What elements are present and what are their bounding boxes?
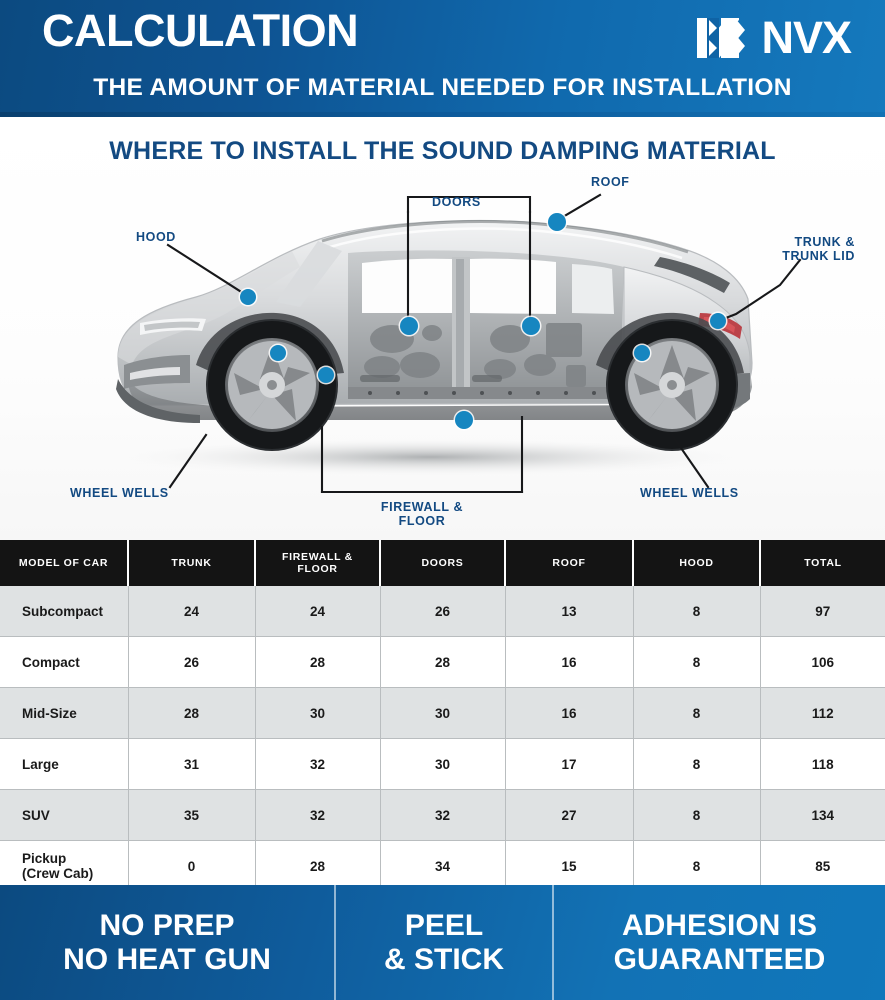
table-body: Subcompact 24 24 26 13 8 97 Compact 26 2… <box>0 586 885 892</box>
cell-roof: 15 <box>505 841 633 892</box>
cell-total: 106 <box>760 637 885 688</box>
footer-item-adhesion: ADHESION IS GUARANTEED <box>554 885 885 1000</box>
col-header-hood: HOOD <box>633 540 760 586</box>
cell-firewall-floor: 32 <box>255 790 380 841</box>
marker-dot-front-door <box>400 317 418 335</box>
label-trunk: TRUNK & TRUNK LID <box>685 235 855 263</box>
cell-doors: 30 <box>380 739 505 790</box>
table-row: SUV 35 32 32 27 8 134 <box>0 790 885 841</box>
footer-banner: NO PREP NO HEAT GUN PEEL & STICK ADHESIO… <box>0 885 885 1000</box>
cell-roof: 17 <box>505 739 633 790</box>
cell-total: 134 <box>760 790 885 841</box>
cell-roof: 16 <box>505 688 633 739</box>
diagram-section: WHERE TO INSTALL THE SOUND DAMPING MATER… <box>0 117 885 540</box>
infographic-page: CALCULATION NVX THE AMOUNT OF MATERIAL N… <box>0 0 885 1000</box>
col-header-trunk: TRUNK <box>128 540 255 586</box>
cell-model: Compact <box>0 637 128 688</box>
cell-model: Pickup (Crew Cab) <box>0 841 128 892</box>
cell-trunk: 35 <box>128 790 255 841</box>
cell-roof: 13 <box>505 586 633 637</box>
front-wheel <box>206 319 338 451</box>
cell-doors: 26 <box>380 586 505 637</box>
label-trunk-line1: TRUNK & <box>685 235 855 249</box>
cell-doors: 28 <box>380 637 505 688</box>
label-doors: DOORS <box>432 195 481 209</box>
cell-total: 112 <box>760 688 885 739</box>
cell-trunk: 26 <box>128 637 255 688</box>
cell-model: SUV <box>0 790 128 841</box>
cell-hood: 8 <box>633 739 760 790</box>
brand-name: NVX <box>761 16 851 60</box>
cell-trunk: 24 <box>128 586 255 637</box>
label-hood: HOOD <box>136 230 176 244</box>
col-header-doors: DOORS <box>380 540 505 586</box>
col-header-total: TOTAL <box>760 540 885 586</box>
page-title: CALCULATION <box>42 8 358 54</box>
marker-dot-floor <box>455 411 473 429</box>
header-banner: CALCULATION NVX THE AMOUNT OF MATERIAL N… <box>0 0 885 117</box>
cell-total: 97 <box>760 586 885 637</box>
label-firewall-floor: FIREWALL & FLOOR <box>322 500 522 528</box>
table-row: Mid-Size 28 30 30 16 8 112 <box>0 688 885 739</box>
footer-item-line1: PEEL <box>384 909 504 943</box>
cell-model: Mid-Size <box>0 688 128 739</box>
cell-doors: 32 <box>380 790 505 841</box>
label-wheel-wells-right: WHEEL WELLS <box>640 486 739 500</box>
footer-item-line2: & STICK <box>384 943 504 977</box>
cell-total: 85 <box>760 841 885 892</box>
table-header-row: MODEL OF CAR TRUNK FIREWALL & FLOOR DOOR… <box>0 540 885 586</box>
cell-doors: 30 <box>380 688 505 739</box>
cell-trunk: 0 <box>128 841 255 892</box>
brand-logo: NVX <box>695 14 851 62</box>
label-firewall-line2: FLOOR <box>322 514 522 528</box>
rear-wheel <box>606 319 738 451</box>
cell-firewall-floor: 28 <box>255 841 380 892</box>
cell-firewall-floor: 28 <box>255 637 380 688</box>
nvx-logo-mark-icon <box>695 16 757 60</box>
label-firewall-line1: FIREWALL & <box>322 500 522 514</box>
cell-hood: 8 <box>633 688 760 739</box>
vehicle-illustration <box>0 117 885 540</box>
footer-item-line1: NO PREP <box>63 909 271 943</box>
marker-dot-roof <box>548 213 566 231</box>
cell-firewall-floor: 30 <box>255 688 380 739</box>
footer-item-line2: NO HEAT GUN <box>63 943 271 977</box>
footer-item-line2: GUARANTEED <box>614 943 826 977</box>
marker-dot-rear-wheel-well <box>634 345 650 361</box>
cell-firewall-floor: 32 <box>255 739 380 790</box>
footer-item-peel-stick: PEEL & STICK <box>334 885 554 1000</box>
cell-model: Subcompact <box>0 586 128 637</box>
cell-model-line2: (Crew Cab) <box>22 866 127 881</box>
material-table-section: MODEL OF CAR TRUNK FIREWALL & FLOOR DOOR… <box>0 540 885 885</box>
cell-hood: 8 <box>633 637 760 688</box>
cell-firewall-floor: 24 <box>255 586 380 637</box>
marker-dot-front-wheel-well <box>270 345 286 361</box>
cell-model: Large <box>0 739 128 790</box>
cell-model-line1: Pickup <box>22 851 127 866</box>
cell-doors: 34 <box>380 841 505 892</box>
cell-hood: 8 <box>633 841 760 892</box>
cell-hood: 8 <box>633 790 760 841</box>
cell-roof: 27 <box>505 790 633 841</box>
footer-item-no-prep: NO PREP NO HEAT GUN <box>0 885 334 1000</box>
material-table: MODEL OF CAR TRUNK FIREWALL & FLOOR DOOR… <box>0 540 885 892</box>
label-roof: ROOF <box>591 175 630 189</box>
header-subtitle: THE AMOUNT OF MATERIAL NEEDED FOR INSTAL… <box>0 74 885 102</box>
col-header-roof: ROOF <box>505 540 633 586</box>
cell-hood: 8 <box>633 586 760 637</box>
cell-trunk: 31 <box>128 739 255 790</box>
label-wheel-wells-left: WHEEL WELLS <box>70 486 169 500</box>
marker-dot-trunk <box>710 313 726 329</box>
marker-dot-rear-door <box>522 317 540 335</box>
footer-item-line1: ADHESION IS <box>614 909 826 943</box>
table-row: Subcompact 24 24 26 13 8 97 <box>0 586 885 637</box>
table-header: MODEL OF CAR TRUNK FIREWALL & FLOOR DOOR… <box>0 540 885 586</box>
cell-total: 118 <box>760 739 885 790</box>
table-row: Pickup (Crew Cab) 0 28 34 15 8 85 <box>0 841 885 892</box>
marker-dot-firewall <box>318 367 334 383</box>
cell-trunk: 28 <box>128 688 255 739</box>
table-row: Compact 26 28 28 16 8 106 <box>0 637 885 688</box>
marker-dot-hood <box>240 289 256 305</box>
col-header-model: MODEL OF CAR <box>0 540 128 586</box>
col-header-firewall-floor: FIREWALL & FLOOR <box>255 540 380 586</box>
table-row: Large 31 32 30 17 8 118 <box>0 739 885 790</box>
cell-roof: 16 <box>505 637 633 688</box>
label-trunk-line2: TRUNK LID <box>685 249 855 263</box>
